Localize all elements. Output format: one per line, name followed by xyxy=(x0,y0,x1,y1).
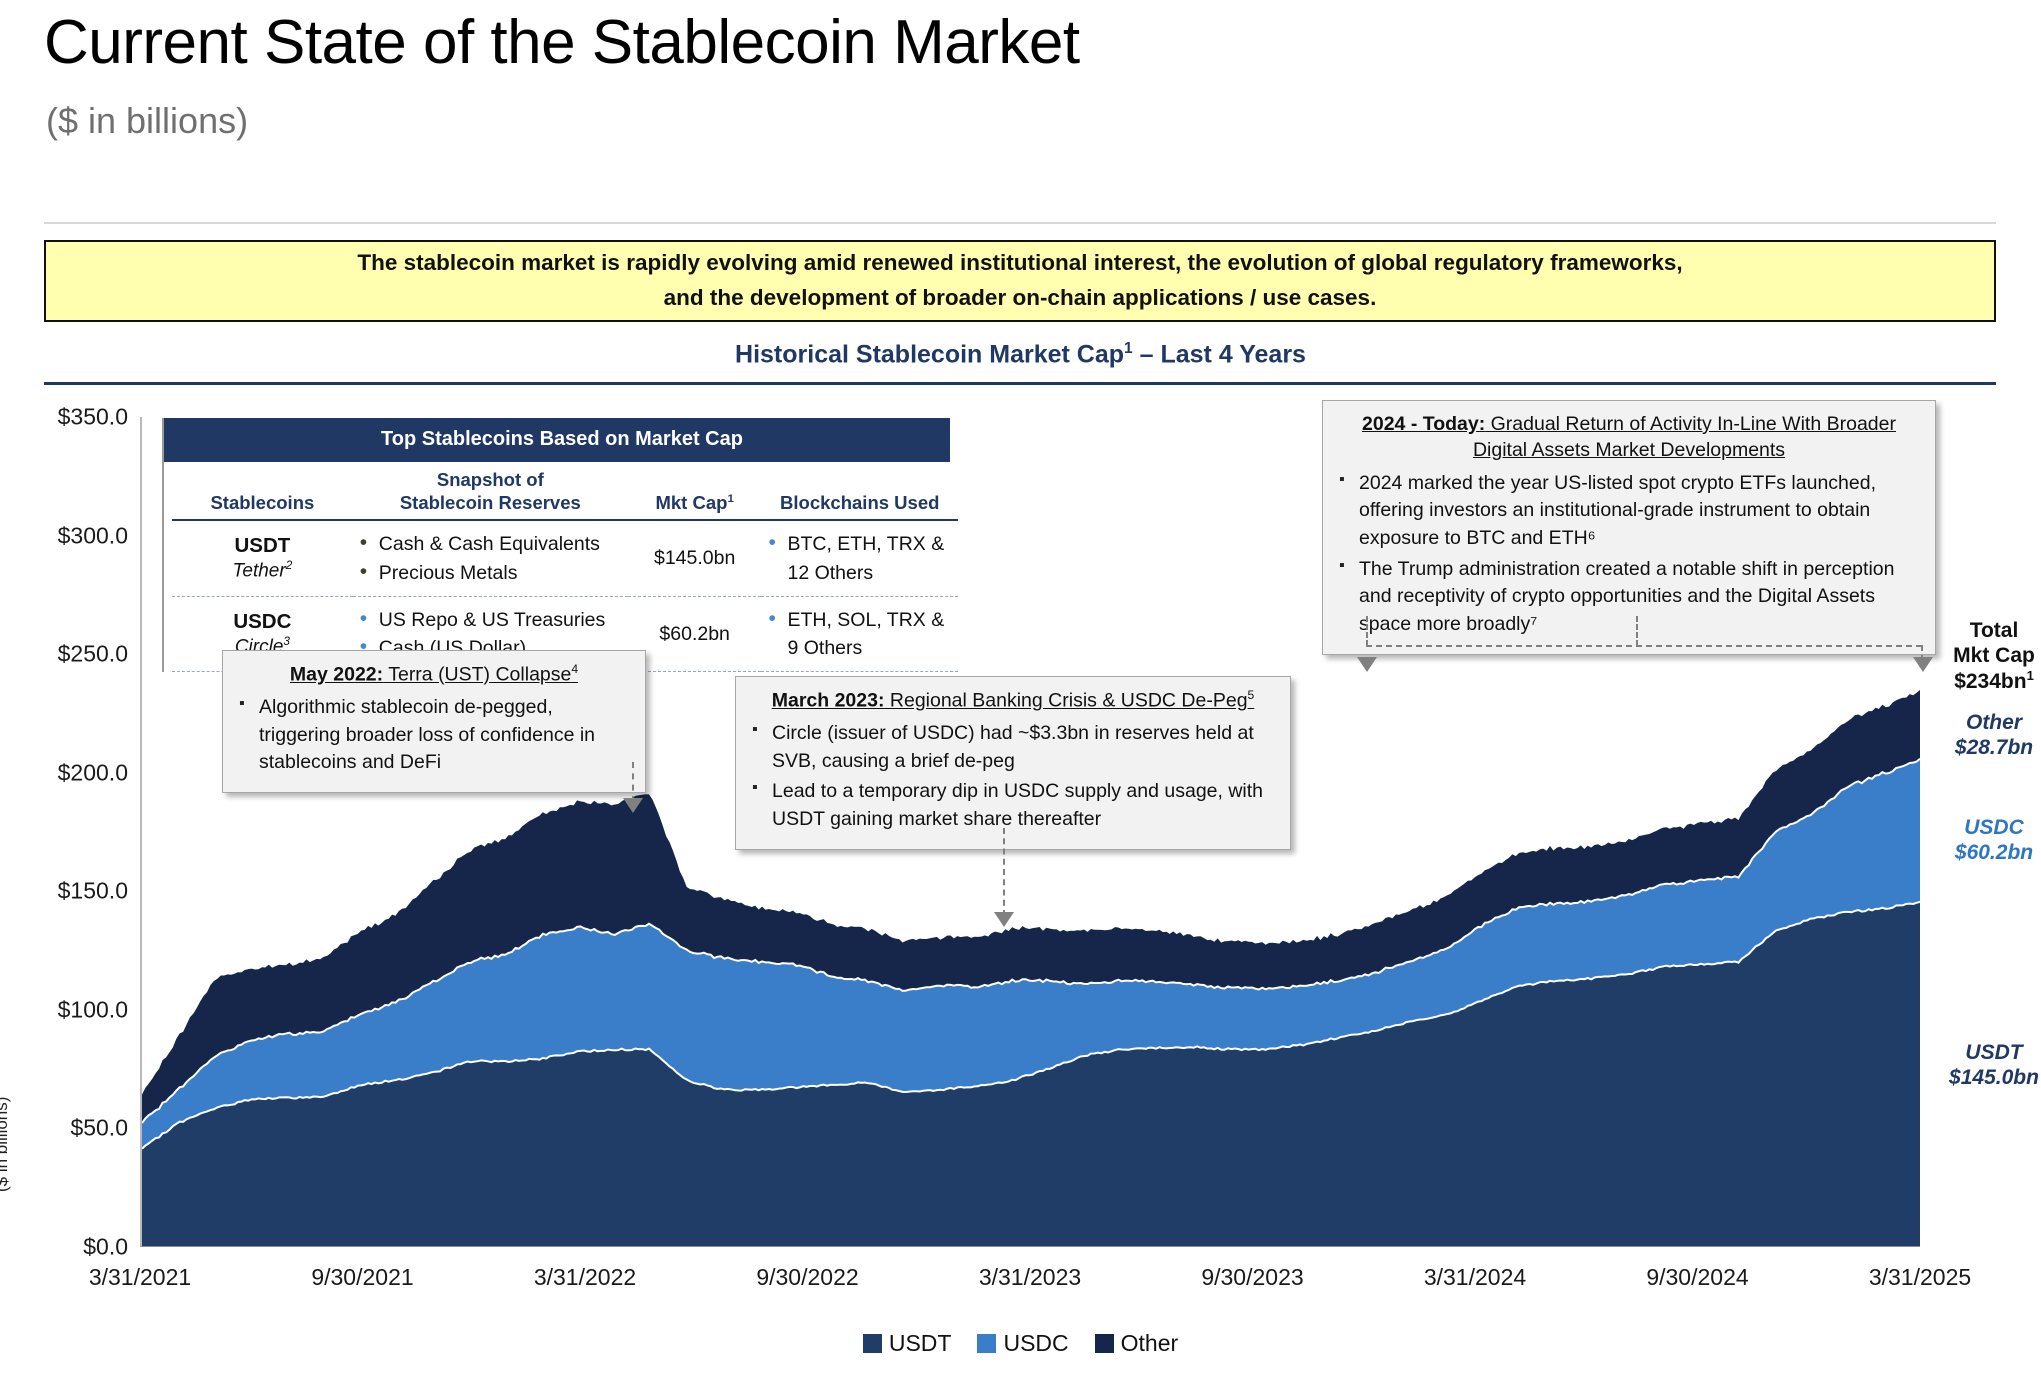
legend-swatch xyxy=(977,1334,996,1353)
y-tick-label: $100.0 xyxy=(13,996,128,1023)
col-reserves-line2: Stablecoin Reserves xyxy=(400,492,581,513)
side-label-usdc: USDC $60.2bn xyxy=(1944,815,2041,865)
col-mktcap: Mkt Cap1 xyxy=(628,462,762,520)
cell-reserves: Cash & Cash EquivalentsPrecious Metals xyxy=(353,520,628,596)
chart-title-divider xyxy=(44,382,1996,385)
cell-blockchains: ETH, SOL, TRX & 9 Others xyxy=(761,596,958,672)
banner-line-1: The stablecoin market is rapidly evolvin… xyxy=(357,250,1682,275)
col-reserves: Snapshot of Stablecoin Reserves xyxy=(353,462,628,520)
callout-bullet: Circle (issuer of USDC) had ~$3.3bn in r… xyxy=(750,720,1276,775)
legend-item-other: Other xyxy=(1095,1330,1179,1357)
x-tick-label: 9/30/2023 xyxy=(1201,1264,1303,1291)
side-label-usdt: USDT $145.0bn xyxy=(1944,1040,2041,1090)
callout-usdc-depeg: March 2023: Regional Banking Crisis & US… xyxy=(735,676,1291,850)
table-column-headers: Stablecoins Snapshot of Stablecoin Reser… xyxy=(172,462,958,520)
callout-2024-today: 2024 - Today: Gradual Return of Activity… xyxy=(1322,400,1936,655)
callout-svb-title: March 2023: Regional Banking Crisis & US… xyxy=(750,687,1276,714)
y-tick-label: $200.0 xyxy=(13,759,128,786)
cell-blockchains: BTC, ETH, TRX & 12 Others xyxy=(761,520,958,596)
callout-svb-bullets: Circle (issuer of USDC) had ~$3.3bn in r… xyxy=(750,720,1276,834)
callout-terra-title: May 2022: Terra (UST) Collapse4 xyxy=(237,661,631,688)
x-tick-label: 9/30/2022 xyxy=(756,1264,858,1291)
callout-bullet: Algorithmic stablecoin de-pegged, trigge… xyxy=(237,694,631,777)
callout-terra-collapse: May 2022: Terra (UST) Collapse4 Algorith… xyxy=(222,650,646,793)
callout-bullet: The Trump administration created a notab… xyxy=(1337,556,1921,639)
col-stablecoins: Stablecoins xyxy=(172,462,353,520)
callout-bullet: 2024 marked the year US-listed spot cryp… xyxy=(1337,470,1921,553)
callout-today-bullets: 2024 marked the year US-listed spot cryp… xyxy=(1337,470,1921,639)
legend-swatch xyxy=(863,1334,882,1353)
page-subtitle: ($ in billions) xyxy=(46,100,248,142)
legend-item-usdt: USDT xyxy=(863,1330,952,1357)
x-tick-label: 3/31/2022 xyxy=(534,1264,636,1291)
callout-bullet: Lead to a temporary dip in USDC supply a… xyxy=(750,778,1276,833)
legend-item-usdc: USDC xyxy=(977,1330,1068,1357)
x-tick-label: 9/30/2024 xyxy=(1646,1264,1748,1291)
page-title: Current State of the Stablecoin Market xyxy=(44,10,1080,75)
chart-title-main: Historical Stablecoin Market Cap xyxy=(735,340,1124,368)
col-reserves-line1: Snapshot of xyxy=(437,469,544,490)
chart-title-tail: – Last 4 Years xyxy=(1133,340,1306,368)
x-tick-label: 3/31/2024 xyxy=(1424,1264,1526,1291)
legend-swatch xyxy=(1095,1334,1114,1353)
table-header-bar: Top Stablecoins Based on Market Cap xyxy=(164,418,950,462)
legend-label: USDC xyxy=(1003,1330,1068,1357)
legend-label: USDT xyxy=(889,1330,952,1357)
col-blockchains: Blockchains Used xyxy=(761,462,958,520)
x-tick-label: 3/31/2025 xyxy=(1869,1264,1971,1291)
x-tick-label: 3/31/2023 xyxy=(979,1264,1081,1291)
header-divider xyxy=(44,222,1996,224)
x-tick-label: 9/30/2021 xyxy=(311,1264,413,1291)
banner-line-2: and the development of broader on-chain … xyxy=(664,285,1377,310)
reserve-item: Cash & Cash Equivalents xyxy=(357,530,624,558)
top-stablecoins-table: Top Stablecoins Based on Market Cap Stab… xyxy=(162,418,950,672)
x-tick-label: 3/31/2021 xyxy=(89,1264,191,1291)
side-label-total-mkt-cap: Total Mkt Cap $234bn1 xyxy=(1944,618,2041,695)
chart-title: Historical Stablecoin Market Cap1 – Last… xyxy=(0,340,2041,369)
legend-label: Other xyxy=(1121,1330,1179,1357)
y-tick-label: $150.0 xyxy=(13,878,128,905)
table-row: USDTTether2Cash & Cash EquivalentsPrecio… xyxy=(172,520,958,596)
y-tick-label: $350.0 xyxy=(13,404,128,431)
chart-title-footnote: 1 xyxy=(1124,340,1133,357)
chart-legend: USDTUSDCOther xyxy=(0,1330,2041,1357)
callout-terra-bullets: Algorithmic stablecoin de-pegged, trigge… xyxy=(237,694,631,777)
y-tick-label: $0.0 xyxy=(13,1234,128,1261)
y-tick-label: $300.0 xyxy=(13,522,128,549)
blockchain-item: BTC, ETH, TRX & 12 Others xyxy=(765,530,954,587)
blockchain-item: ETH, SOL, TRX & 9 Others xyxy=(765,606,954,663)
y-axis-ticks: $0.0$50.0$100.0$150.0$200.0$250.0$300.0$… xyxy=(0,392,128,1375)
y-tick-label: $250.0 xyxy=(13,641,128,668)
cell-mkt-cap: $145.0bn xyxy=(628,520,762,596)
key-message-banner: The stablecoin market is rapidly evolvin… xyxy=(44,240,1996,322)
side-label-other: Other $28.7bn xyxy=(1944,710,2041,760)
y-tick-label: $50.0 xyxy=(13,1115,128,1142)
callout-today-title: 2024 - Today: Gradual Return of Activity… xyxy=(1337,411,1921,464)
reserve-item: US Repo & US Treasuries xyxy=(357,606,624,634)
cell-mkt-cap: $60.2bn xyxy=(628,596,762,672)
reserve-item: Precious Metals xyxy=(357,559,624,587)
cell-stablecoin: USDTTether2 xyxy=(172,520,353,596)
